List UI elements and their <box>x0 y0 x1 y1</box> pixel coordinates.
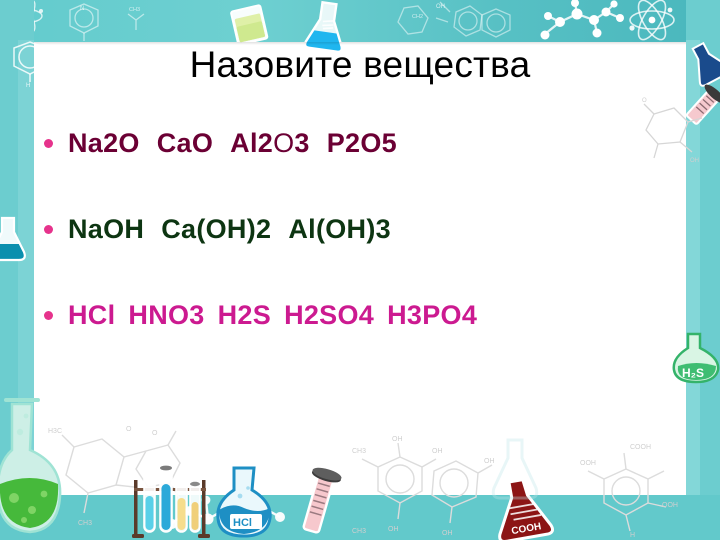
slide: N CH3 OH CH2 <box>0 0 720 540</box>
list-item-oxides: Na2OCaOAl2Ο3P2O5 <box>34 122 694 164</box>
green-round-flask-icon <box>0 398 70 540</box>
svg-text:OH: OH <box>388 526 399 533</box>
formula-cao: CaO <box>157 128 213 158</box>
formula-h2so4: H2SO4 <box>284 300 374 330</box>
formula-list: Na2OCaOAl2Ο3P2O5 NaOHCa(OH)2Al(OH)3 HClH… <box>34 122 694 380</box>
bottom-molecules: H3C O CH3 O CH3 OH OH OH OH OH CH3 <box>0 415 720 540</box>
svg-text:CH3: CH3 <box>352 528 366 535</box>
svg-text:CH3: CH3 <box>78 520 92 527</box>
svg-text:OH: OH <box>432 448 443 455</box>
formula-aloh3: Al(OH)3 <box>288 214 391 244</box>
svg-text:OH: OH <box>436 4 445 10</box>
formula-al2o3-prefix: Al2 <box>230 128 273 158</box>
svg-text:OH: OH <box>392 436 403 443</box>
svg-text:CH3: CH3 <box>129 7 140 13</box>
formula-caoh2: Ca(OH)2 <box>161 214 271 244</box>
test-tube-rack-icon <box>128 462 218 540</box>
formula-line-bases: NaOHCa(OH)2Al(OH)3 <box>68 213 391 245</box>
formula-h3po4: H3PO4 <box>387 300 477 330</box>
bottom-syringe-icon <box>292 464 346 540</box>
formula-line-acids: HClHNO3H2SH2SO4H3PO4 <box>68 299 477 331</box>
svg-text:COOH: COOH <box>630 444 651 451</box>
bullet-marker-bases <box>44 225 53 234</box>
page-title: Назовите вещества <box>0 42 720 88</box>
svg-text:CH2: CH2 <box>412 14 423 20</box>
svg-text:OOH: OOH <box>580 460 596 467</box>
hcl-flask-icon: HCl <box>214 466 276 540</box>
formula-al2o3-suffix: 3 <box>294 128 309 158</box>
svg-text:OH: OH <box>484 458 495 465</box>
left-inner-band <box>18 40 34 500</box>
formula-al2o3-thin-o: Ο <box>273 128 294 158</box>
formula-h2s: H2S <box>218 300 271 330</box>
formula-hcl: HCl <box>68 300 115 330</box>
bullet-marker-oxides <box>44 139 53 148</box>
formula-hno3: HNO3 <box>128 300 204 330</box>
list-item-bases: NaOHCa(OH)2Al(OH)3 <box>34 208 694 250</box>
formula-naoh: NaOH <box>68 214 144 244</box>
top-band-molecules: N CH3 OH CH2 <box>0 0 720 44</box>
svg-text:CH3: CH3 <box>352 448 366 455</box>
ghost-flask-outline <box>492 438 540 500</box>
svg-text:H3C: H3C <box>48 428 62 435</box>
svg-text:O: O <box>642 98 647 104</box>
svg-text:N: N <box>80 6 84 12</box>
formula-line-oxides: Na2OCaOAl2Ο3P2O5 <box>68 127 397 159</box>
svg-text:OH: OH <box>442 530 453 537</box>
top-decorative-band <box>0 0 720 42</box>
left-band-flask-icon <box>0 214 30 266</box>
svg-text:H: H <box>630 532 635 539</box>
svg-text:N: N <box>694 24 698 30</box>
bullet-marker-acids <box>44 311 53 320</box>
list-item-acids: HClHNO3H2SH2SO4H3PO4 <box>34 294 694 336</box>
formula-p2o5: P2O5 <box>327 128 397 158</box>
svg-text:O: O <box>126 426 132 433</box>
svg-text:HCl: HCl <box>233 517 252 529</box>
formula-na2o: Na2O <box>68 128 140 158</box>
svg-text:OOH: OOH <box>662 502 678 509</box>
yellow-beaker-icon <box>226 2 272 47</box>
cooh-flask-icon: COOH <box>492 480 554 540</box>
svg-text:COOH: COOH <box>511 521 542 537</box>
svg-text:O: O <box>152 430 158 437</box>
bottom-decorative-band <box>0 495 720 540</box>
